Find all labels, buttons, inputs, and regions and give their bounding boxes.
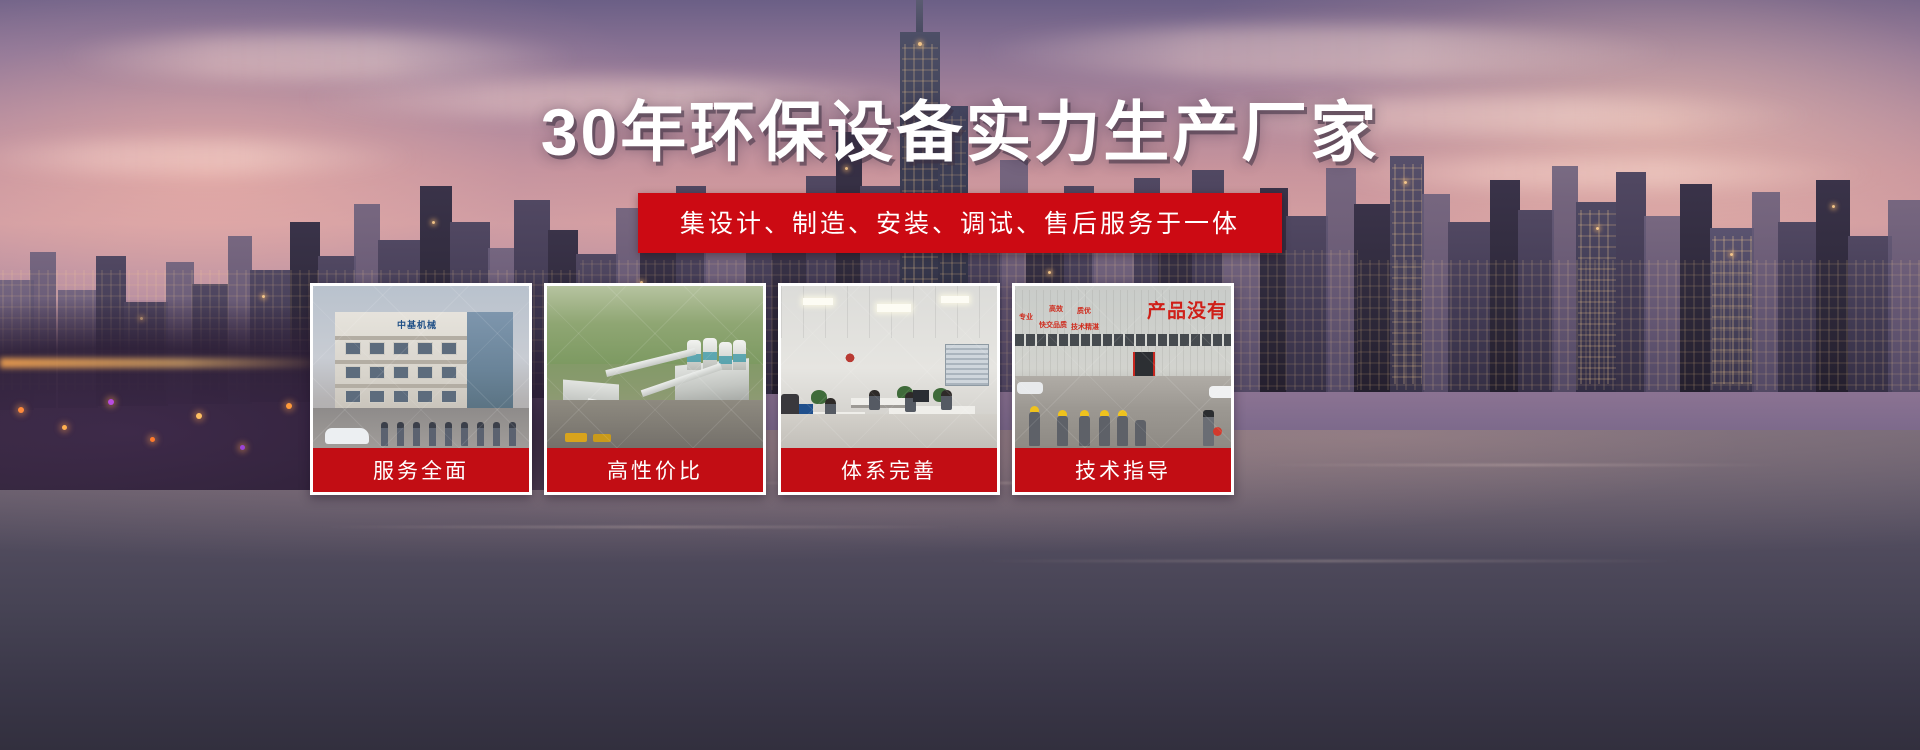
feature-card-value[interactable]: 高性价比 xyxy=(544,283,766,495)
card-label-service: 服务全面 xyxy=(313,448,529,492)
factory-banner-text: 产品没有 xyxy=(1147,296,1227,323)
feature-card-system[interactable]: 体系完善 xyxy=(778,283,1000,495)
factory-slogan-1: 专业 xyxy=(1019,312,1033,322)
factory-slogan-3: 快交品质 xyxy=(1039,320,1067,330)
hero-banner: 30年环保设备实力生产厂家 集设计、制造、安装、调试、售后服务于一体 中基机械 xyxy=(0,0,1920,750)
subtitle-banner: 集设计、制造、安装、调试、售后服务于一体 xyxy=(638,193,1282,253)
factory-slogan-5: 技术精湛 xyxy=(1071,322,1099,332)
card-label-value: 高性价比 xyxy=(547,448,763,492)
feature-card-guidance[interactable]: 产品没有 专业 高效 快交品质 质优 技术精湛 xyxy=(1012,283,1234,495)
factory-slogan-2: 高效 xyxy=(1049,304,1063,314)
feature-card-service[interactable]: 中基机械 xyxy=(310,283,532,495)
feature-card-row: 中基机械 xyxy=(310,283,1252,495)
building-sign: 中基机械 xyxy=(397,318,437,331)
factory-slogan-4: 质优 xyxy=(1077,306,1091,316)
card-label-system: 体系完善 xyxy=(781,448,997,492)
subtitle-banner-wrapper: 集设计、制造、安装、调试、售后服务于一体 xyxy=(0,193,1920,253)
page-title: 30年环保设备实力生产厂家 xyxy=(0,96,1920,170)
card-label-guidance: 技术指导 xyxy=(1015,448,1231,492)
